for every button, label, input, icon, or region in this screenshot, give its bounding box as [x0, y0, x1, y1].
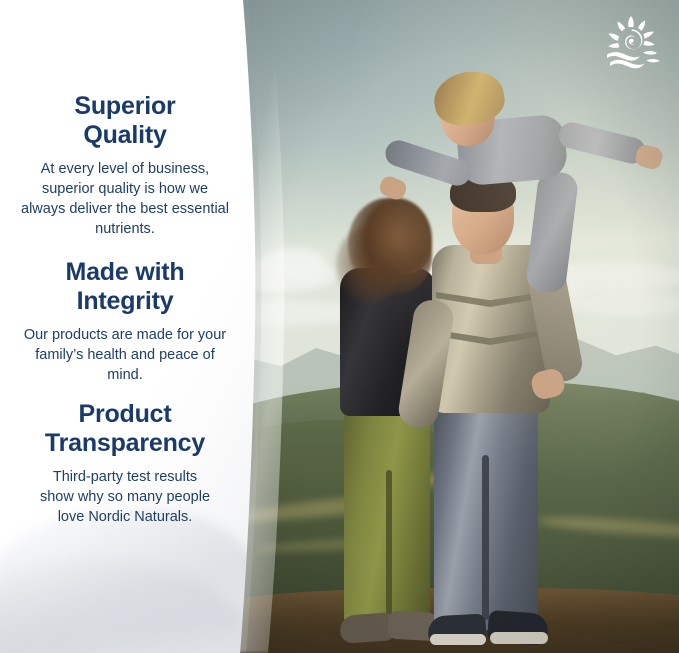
- value-prop-body: At every level of business, superior qua…: [0, 159, 250, 239]
- value-prop-list: SuperiorQuality At every level of busine…: [0, 0, 250, 653]
- heading-line-2: Transparency: [45, 429, 205, 457]
- photo-vignette: [236, 0, 679, 653]
- heading-line-1: Made with: [65, 258, 184, 286]
- value-prop-body: Our products are made for your family’s …: [0, 325, 250, 385]
- value-prop-made-with-integrity: Made withIntegrity Our products are made…: [0, 258, 250, 385]
- heading-line-1: Superior: [74, 92, 175, 120]
- value-prop-body: Third-party test results show why so man…: [0, 467, 250, 527]
- heading-line-2: Integrity: [77, 287, 174, 315]
- heading-line-2: Quality: [83, 121, 166, 149]
- value-prop-heading: ProductTransparency: [0, 400, 250, 458]
- marketing-banner: SuperiorQuality At every level of busine…: [0, 0, 679, 653]
- value-prop-heading: SuperiorQuality: [0, 92, 250, 150]
- value-prop-product-transparency: ProductTransparency Third-party test res…: [0, 400, 250, 527]
- value-prop-superior-quality: SuperiorQuality At every level of busine…: [0, 92, 250, 239]
- value-prop-heading: Made withIntegrity: [0, 258, 250, 316]
- family-lifestyle-photo: [236, 0, 679, 653]
- heading-line-1: Product: [78, 400, 171, 428]
- sun-wave-logo-icon: [601, 14, 663, 70]
